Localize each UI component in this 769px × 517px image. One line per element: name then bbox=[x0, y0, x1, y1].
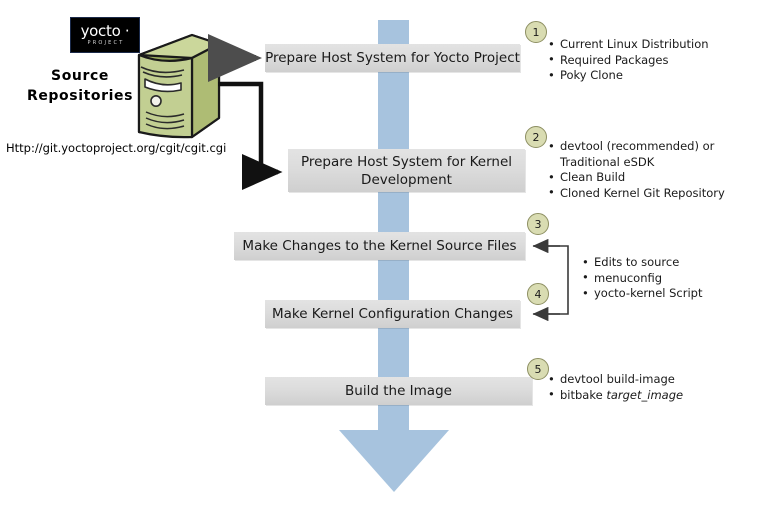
bullet-text: Poky Clone bbox=[560, 68, 623, 82]
process-box-step2-label-line2: Development bbox=[301, 171, 512, 189]
bullet-list-steps-3-4: Edits to source menuconfig yocto-kernel … bbox=[582, 255, 703, 302]
pipeline-arrow-shaft bbox=[378, 20, 409, 432]
process-box-step3[interactable]: Make Changes to the Kernel Source Files bbox=[234, 232, 525, 260]
step-circle-3: 3 bbox=[527, 213, 549, 235]
server-icon bbox=[136, 32, 222, 140]
bullet-text-italic: target_image bbox=[606, 388, 683, 402]
process-box-step2-label-line1: Prepare Host System for Kernel bbox=[301, 153, 512, 171]
list-item: bitbake target_image bbox=[548, 388, 683, 404]
yocto-project-logo: yocto · PROJECT bbox=[70, 17, 140, 53]
process-box-step2[interactable]: Prepare Host System for Kernel Developme… bbox=[288, 149, 525, 192]
source-label-line1: Source bbox=[20, 66, 140, 86]
process-box-step3-label: Make Changes to the Kernel Source Files bbox=[242, 237, 516, 255]
process-box-step1-label: Prepare Host System for Yocto Project bbox=[265, 49, 520, 67]
arrow-server-to-step2 bbox=[218, 84, 278, 172]
bullet-list-step1: Current Linux Distribution Required Pack… bbox=[548, 37, 709, 84]
bullet-text: yocto-kernel Script bbox=[594, 286, 703, 300]
pipeline-arrow-head bbox=[339, 430, 449, 492]
process-box-step4[interactable]: Make Kernel Configuration Changes bbox=[265, 300, 520, 328]
list-item: Clean Build bbox=[548, 170, 725, 186]
source-repositories-label: Source Repositories bbox=[20, 66, 140, 106]
step-circle-5: 5 bbox=[527, 358, 549, 380]
list-item: devtool (recommended) or Traditional eSD… bbox=[548, 139, 725, 170]
source-repository-url: Http://git.yoctoproject.org/cgit/cgit.cg… bbox=[6, 141, 226, 155]
bullet-text: devtool build-image bbox=[560, 372, 675, 386]
step-circle-4: 4 bbox=[527, 283, 549, 305]
bullet-text: Required Packages bbox=[560, 53, 669, 67]
bullet-list-step2: devtool (recommended) or Traditional eSD… bbox=[548, 139, 725, 201]
diagram-canvas: yocto · PROJECT Source Repositories Http… bbox=[0, 0, 769, 517]
list-item: yocto-kernel Script bbox=[582, 286, 703, 302]
bullet-text: Clean Build bbox=[560, 170, 625, 184]
step-circle-2: 2 bbox=[525, 126, 547, 148]
process-box-step5-label: Build the Image bbox=[345, 382, 452, 400]
list-item: devtool build-image bbox=[548, 372, 683, 388]
bullet-text: devtool (recommended) or bbox=[560, 139, 714, 153]
process-box-step1[interactable]: Prepare Host System for Yocto Project bbox=[265, 44, 520, 72]
logo-wordmark: yocto · bbox=[81, 24, 130, 38]
bullet-text: Edits to source bbox=[594, 255, 679, 269]
bullet-text: Current Linux Distribution bbox=[560, 37, 709, 51]
source-label-line2: Repositories bbox=[20, 86, 140, 106]
list-item: Edits to source bbox=[582, 255, 703, 271]
list-item: Required Packages bbox=[548, 53, 709, 69]
bullet-text: menuconfig bbox=[594, 271, 662, 285]
bullet-list-step5: devtool build-image bitbake target_image bbox=[548, 372, 683, 403]
step-circle-1: 1 bbox=[525, 21, 547, 43]
process-box-step4-label: Make Kernel Configuration Changes bbox=[272, 305, 513, 323]
list-item: Cloned Kernel Git Repository bbox=[548, 186, 725, 202]
list-item: Current Linux Distribution bbox=[548, 37, 709, 53]
process-box-step5[interactable]: Build the Image bbox=[265, 377, 532, 405]
list-item: menuconfig bbox=[582, 271, 703, 287]
bullet-text: bitbake bbox=[560, 388, 606, 402]
bullet-text-continuation: Traditional eSDK bbox=[560, 155, 725, 171]
list-item: Poky Clone bbox=[548, 68, 709, 84]
bullet-text: Cloned Kernel Git Repository bbox=[560, 186, 725, 200]
logo-subtitle: PROJECT bbox=[85, 39, 124, 47]
